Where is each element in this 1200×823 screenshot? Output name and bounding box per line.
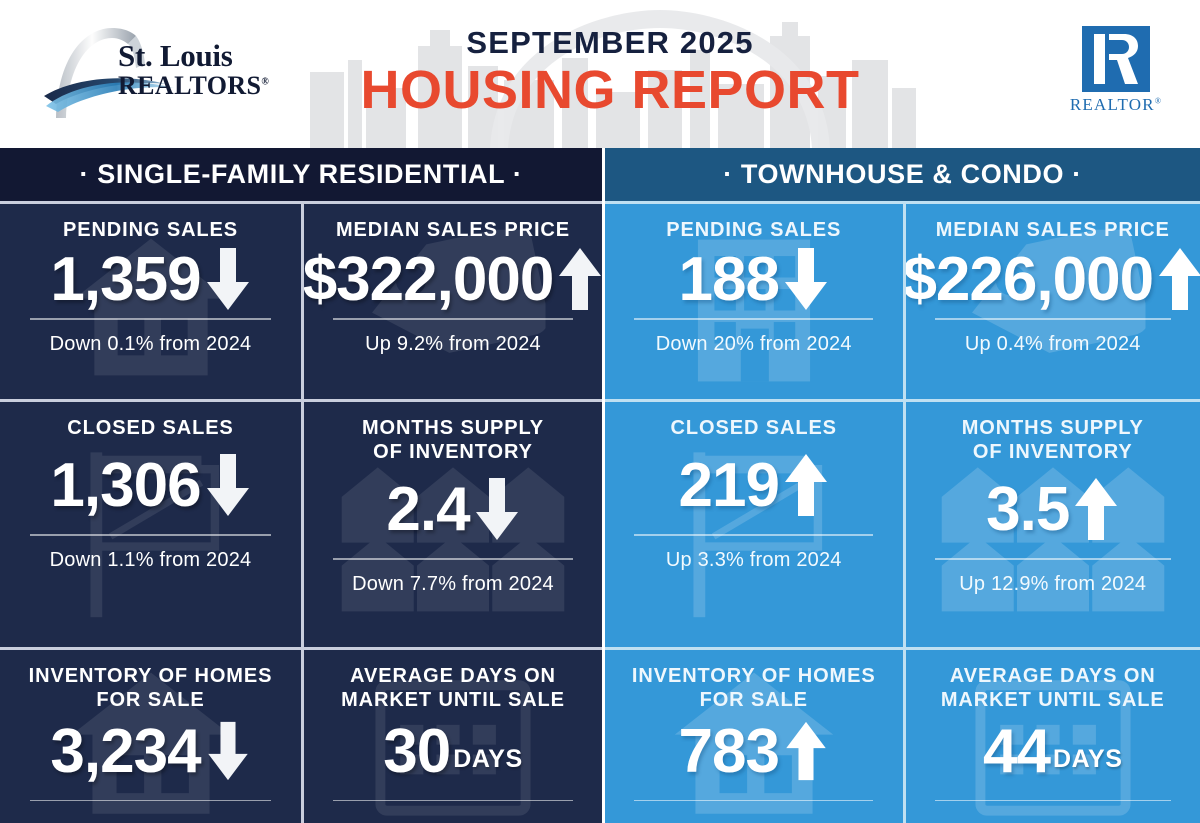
grid-single-family: PENDING SALES 1,359 Down 0.1% from 2024 [0,201,602,823]
stl-wordmark-line1: St. Louis [118,40,269,71]
stat-cell-months-supply-tc: MONTHS SUPPLYOF INVENTORY 3.5 Up 12.9% f… [903,402,1200,647]
report-title-block: SEPTEMBER 2025 HOUSING REPORT [330,26,890,119]
stl-wordmark-line2: REALTORS® [118,73,269,99]
grid-townhouse-condo: PENDING SALES 188 Down 20% from 2024 [605,201,1200,823]
arrow-down-icon [205,720,251,782]
stat-cell-days-on-market-tc: AVERAGE DAYS ONMARKET UNTIL SALE 44 DAYS [903,650,1200,823]
stat-label: AVERAGE DAYS ONMARKET UNTIL SALE [341,664,565,713]
arrow-down-icon [205,452,251,518]
stat-cell-inventory-tc: INVENTORY OF HOMESFOR SALE 783 [605,650,903,823]
realtor-logo: REALTOR® [1068,26,1164,126]
stat-label: CLOSED SALES [671,416,837,440]
stat-label: MEDIAN SALES PRICE [936,218,1170,242]
stat-value-row: 1,306 [50,452,250,518]
stat-value-row: 3,234 [50,719,250,784]
stat-value-row: 219 [679,452,829,518]
stat-change: Down 20% from 2024 [656,320,852,366]
report-month: SEPTEMBER 2025 [330,26,890,60]
arrow-up-icon [1157,246,1200,312]
stat-value: $226,000 [903,247,1154,312]
section-heading-single-family: · SINGLE-FAMILY RESIDENTIAL · [0,148,602,201]
stat-value: $322,000 [303,247,554,312]
stat-value-row: 3.5 [986,476,1119,542]
stat-change: Down 1.1% from 2024 [50,536,252,582]
grid-row: PENDING SALES 188 Down 20% from 2024 [605,204,1200,399]
grid-row: PENDING SALES 1,359 Down 0.1% from 2024 [0,204,602,399]
grid-row: INVENTORY OF HOMESFOR SALE 783 [605,647,1200,823]
stat-value-row: 1,359 [50,246,250,312]
stat-value: 783 [679,719,779,784]
stats-panels: · SINGLE-FAMILY RESIDENTIAL · PENDING SA… [0,148,1200,823]
stat-unit: DAYS [1053,745,1123,774]
arrow-up-icon [783,452,829,518]
stat-value: 2.4 [386,477,469,542]
realtor-r-stem [1094,34,1105,84]
realtor-r-bowl-icon [1109,34,1138,84]
panel-townhouse-condo: · TOWNHOUSE & CONDO · [602,148,1200,823]
stat-cell-months-supply-sf: MONTHS SUPPLYOF INVENTORY 2.4 Down 7.7% … [301,402,602,647]
stat-label: MONTHS SUPPLYOF INVENTORY [962,416,1144,465]
stat-value: 44 [983,719,1050,784]
stat-value: 219 [679,453,779,518]
stat-label: INVENTORY OF HOMESFOR SALE [29,664,273,713]
stat-cell-days-on-market-sf: AVERAGE DAYS ONMARKET UNTIL SALE 30 DAYS [301,650,602,823]
grid-row: CLOSED SALES 1,306 Down 1.1% from 2024 [0,399,602,647]
st-louis-realtors-logo: St. Louis REALTORS® [40,22,280,126]
stat-label: CLOSED SALES [67,416,233,440]
stat-label: PENDING SALES [666,218,841,242]
stat-cell-inventory-sf: INVENTORY OF HOMESFOR SALE 3,234 [0,650,301,823]
stat-label: MONTHS SUPPLYOF INVENTORY [362,416,544,465]
arrow-down-icon [783,246,829,312]
stat-value-row: $322,000 [303,246,602,312]
stat-value: 30 [383,719,450,784]
housing-report-infographic: St. Louis REALTORS® SEPTEMBER 2025 HOUSI… [0,0,1200,823]
stat-value-row: 783 [679,719,829,784]
realtor-r-mark-icon [1082,26,1150,92]
stat-value: 3,234 [50,719,200,784]
stat-cell-median-price-sf: MEDIAN SALES PRICE $322,000 Up 9.2% from… [301,204,602,399]
grid-row: CLOSED SALES 219 Up 3.3% from 2024 [605,399,1200,647]
panel-single-family: · SINGLE-FAMILY RESIDENTIAL · PENDING SA… [0,148,602,823]
report-title: HOUSING REPORT [330,62,890,119]
stl-wordmark: St. Louis REALTORS® [118,40,269,99]
stat-cell-pending-sales-tc: PENDING SALES 188 Down 20% from 2024 [605,204,903,399]
arrow-up-icon [783,720,829,782]
stat-value: 1,359 [50,247,200,312]
stat-value-row: 44 DAYS [983,719,1123,784]
stat-cell-closed-sales-sf: CLOSED SALES 1,306 Down 1.1% from 2024 [0,402,301,647]
stat-value-row: $226,000 [903,246,1200,312]
stat-value-row: 30 DAYS [383,719,523,784]
stat-change: Down 7.7% from 2024 [352,560,554,606]
stat-label: MEDIAN SALES PRICE [336,218,570,242]
stat-value-row: 188 [679,246,829,312]
stat-change: Up 9.2% from 2024 [365,320,541,366]
grid-row: INVENTORY OF HOMESFOR SALE 3,234 [0,647,602,823]
arrow-up-icon [1073,476,1119,542]
stat-value: 188 [679,247,779,312]
arrow-down-icon [474,476,520,542]
stat-value: 3.5 [986,477,1069,542]
stat-cell-pending-sales-sf: PENDING SALES 1,359 Down 0.1% from 2024 [0,204,301,399]
arrow-down-icon [205,246,251,312]
stat-change: Down 0.1% from 2024 [50,320,252,366]
stat-label: PENDING SALES [63,218,238,242]
stat-value-row: 2.4 [386,476,519,542]
stat-cell-median-price-tc: MEDIAN SALES PRICE $226,000 Up 0.4% from… [903,204,1200,399]
arrow-up-icon [557,246,602,312]
stat-label: INVENTORY OF HOMESFOR SALE [632,664,876,713]
realtor-label: REALTOR® [1068,95,1164,115]
stat-label: AVERAGE DAYS ONMARKET UNTIL SALE [941,664,1165,713]
stat-change: Up 12.9% from 2024 [959,560,1146,606]
stat-unit: DAYS [453,745,523,774]
masthead: St. Louis REALTORS® SEPTEMBER 2025 HOUSI… [0,0,1200,148]
stat-change: Up 3.3% from 2024 [666,536,842,582]
stat-change: Up 0.4% from 2024 [965,320,1141,366]
stat-value: 1,306 [50,453,200,518]
section-heading-townhouse-condo: · TOWNHOUSE & CONDO · [605,148,1200,201]
stat-cell-closed-sales-tc: CLOSED SALES 219 Up 3.3% from 2024 [605,402,903,647]
